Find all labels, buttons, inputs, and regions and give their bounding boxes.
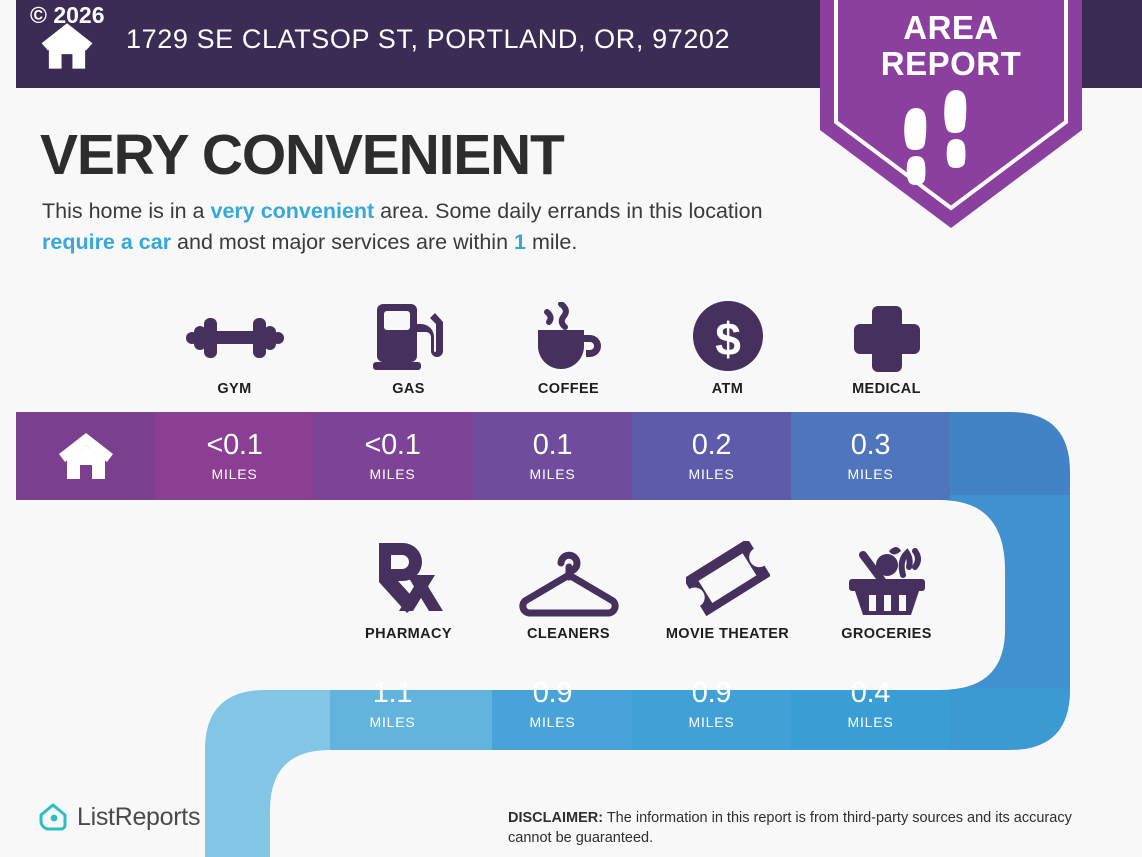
coffee-cup-icon [528,302,610,372]
distance-value: 1.1 [373,679,412,708]
amenity-label: GROCERIES [807,626,966,642]
svg-text:$: $ [715,313,741,365]
distance-cell-gas: <0.1 MILES [313,412,472,500]
ticket-icon [686,541,770,617]
desc-part-2: area. Some daily errands in this locatio… [374,199,762,223]
amenity-cleaners: CLEANERS [489,545,648,642]
desc-highlight-2: require a car [42,230,171,254]
distance-cell-movie-theater: 0.9 MILES [632,660,791,748]
dollar-circle-icon: $ [692,300,764,372]
distance-unit: MILES [529,466,575,482]
distance-cell-atm: 0.2 MILES [632,412,791,500]
amenity-pharmacy: PHARMACY [329,545,488,642]
home-marker-cell [16,412,155,500]
distance-value: 0.2 [692,431,731,460]
area-report-page: © 2026 1729 SE CLATSOP ST, PORTLAND, OR,… [0,0,1142,857]
area-report-badge: AREA REPORT [820,0,1082,230]
desc-part-1: This home is in a [42,199,210,223]
distance-value: 0.1 [533,431,572,460]
medical-cross-icon [854,306,920,372]
listreports-logo[interactable]: ListReports [38,802,200,832]
distance-unit: MILES [211,466,257,482]
distance-unit: MILES [369,714,415,730]
distance-value: <0.1 [364,431,420,460]
distance-unit: MILES [688,714,734,730]
hanger-icon [519,549,619,617]
amenity-label: MEDICAL [807,381,966,397]
distance-cell-gym: <0.1 MILES [155,412,314,500]
distance-cell-pharmacy: 1.1 MILES [313,660,472,748]
copyright-watermark: © 2026 [30,2,105,29]
logo-text: ListReports [77,803,200,832]
distance-value: 0.3 [851,431,890,460]
distance-cell-groceries: 0.4 MILES [791,660,950,748]
house-icon [58,431,114,481]
distance-value: 0.9 [533,679,572,708]
listreports-house-icon [38,802,68,832]
badge-title: AREA REPORT [820,10,1082,83]
amenity-movie-theater: MOVIE THEATER [648,545,807,642]
distance-value: <0.1 [206,431,262,460]
desc-highlight-1: very convenient [210,199,374,223]
amenity-label: ATM [648,381,807,397]
page-title: VERY CONVENIENT [40,122,564,188]
amenity-medical: MEDICAL [807,300,966,397]
desc-part-3: and most major services are within [171,230,514,254]
distance-unit: MILES [529,714,575,730]
disclaimer-label: DISCLAIMER: [508,810,603,826]
amenity-gas: GAS [329,300,488,397]
amenity-atm: $ ATM [648,300,807,397]
amenity-label: GYM [155,381,314,397]
page-description: This home is in a very convenient area. … [42,196,822,257]
desc-highlight-3: 1 [514,230,526,254]
amenity-label: GAS [329,381,488,397]
badge-line-1: AREA [903,9,999,46]
gas-pump-icon [371,300,447,372]
badge-line-2: REPORT [881,45,1022,82]
distance-unit: MILES [847,466,893,482]
property-address: 1729 SE CLATSOP ST, PORTLAND, OR, 97202 [126,24,730,55]
distance-cell-coffee: 0.1 MILES [473,412,632,500]
distance-cell-medical: 0.3 MILES [791,412,950,500]
disclaimer: DISCLAIMER: The information in this repo… [508,808,1108,848]
distance-cell-cleaners: 0.9 MILES [473,660,632,748]
distance-unit: MILES [688,466,734,482]
amenity-label: CLEANERS [489,626,648,642]
distance-value: 0.4 [851,679,890,708]
distance-value: 0.9 [692,679,731,708]
grocery-basket-icon [843,541,931,617]
rx-icon [373,541,445,617]
distance-unit: MILES [847,714,893,730]
amenity-gym: GYM [155,300,314,397]
amenity-label: COFFEE [489,381,648,397]
amenity-coffee: COFFEE [489,300,648,397]
amenity-label: PHARMACY [329,626,488,642]
amenity-groceries: GROCERIES [807,545,966,642]
distance-unit: MILES [369,466,415,482]
desc-part-4: mile. [526,230,577,254]
dumbbell-icon [186,304,284,372]
amenity-label: MOVIE THEATER [648,626,807,642]
